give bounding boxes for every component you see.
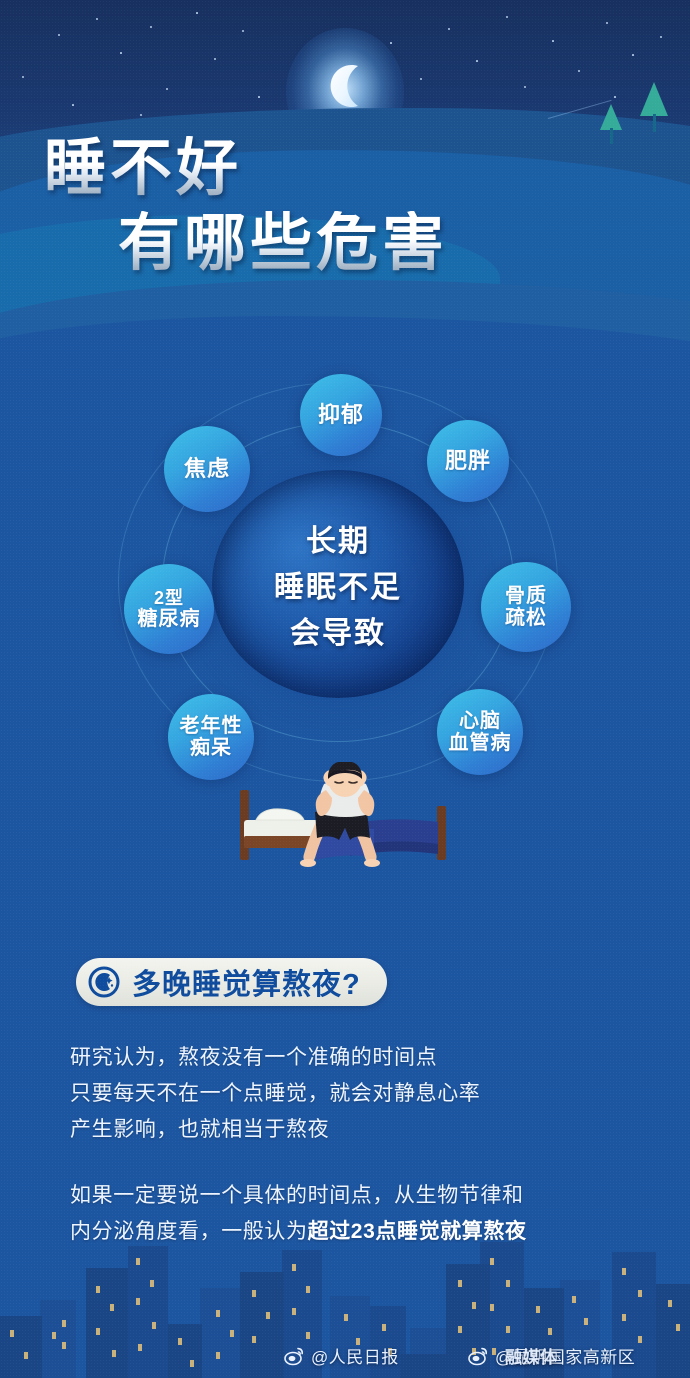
star: [72, 104, 74, 106]
bubble-label-line2: 糖尿病: [138, 608, 201, 630]
star: [166, 88, 168, 90]
section-badge-title: 多晚睡觉算熬夜?: [132, 961, 361, 1003]
star: [632, 54, 634, 56]
paragraph-gap: [70, 1148, 650, 1178]
star: [476, 60, 478, 62]
man-sitting-on-bed-illustration: [232, 762, 458, 874]
star: [214, 58, 216, 60]
bubble-osteoporosis[interactable]: 骨质 疏松: [481, 562, 571, 652]
bubble-label-line1: 骨质: [505, 585, 547, 607]
bubble-label-line2: 血管病: [449, 732, 512, 754]
star: [390, 42, 392, 44]
bubble-label-line1: 2型: [138, 588, 201, 608]
star: [660, 36, 662, 38]
crescent-moon-icon: [321, 62, 369, 110]
title-line-2: 有哪些危害: [0, 211, 690, 276]
center-line-3: 会导致: [290, 608, 386, 652]
paragraph2-line1: 如果一定要说一个具体的时间点，从生物节律和: [70, 1178, 650, 1214]
star: [506, 16, 508, 18]
star: [242, 30, 244, 32]
star: [120, 52, 122, 54]
bubble-obesity[interactable]: 肥胖: [427, 420, 509, 502]
bubble-diabetes[interactable]: 2型 糖尿病: [124, 564, 214, 654]
bubble-label-line1: 心脑: [449, 710, 512, 732]
diagram-center-text: 长期 睡眠不足 会导致: [212, 470, 464, 698]
bubble-label: 肥胖: [445, 449, 491, 474]
star: [420, 78, 422, 80]
watermark-kunming-overlay: 融媒体: [505, 1343, 558, 1368]
bubble-label-line1: 老年性: [180, 715, 243, 737]
poster-root: 睡不好 有哪些危害 长期 睡眠不足 会导致 抑郁 肥胖 骨质 疏松 心脑 血: [0, 0, 690, 1378]
star: [140, 114, 142, 116]
bubble-label: 抑郁: [318, 403, 364, 428]
star: [448, 28, 450, 30]
center-line-1: 长期: [306, 516, 370, 560]
star: [58, 34, 60, 36]
page-title: 睡不好 有哪些危害: [0, 136, 690, 276]
watermark-people-daily: @人民日报: [284, 1343, 399, 1368]
bubble-label-line2: 疏松: [505, 607, 547, 629]
star: [552, 40, 554, 42]
bubble-anxiety[interactable]: 焦虑: [164, 426, 250, 512]
star: [150, 26, 152, 28]
star: [524, 86, 526, 88]
star: [614, 96, 616, 98]
star: [96, 18, 98, 20]
star: [578, 70, 580, 72]
paragraph1-line3: 产生影响，也就相当于熬夜: [70, 1112, 650, 1148]
moon-stars-icon: [88, 966, 120, 998]
body-copy: 研究认为，熬夜没有一个准确的时间点 只要每天不在一个点睡觉，就会对静息心率 产生…: [70, 1040, 650, 1250]
bubble-depression[interactable]: 抑郁: [300, 374, 382, 456]
paragraph1-line1: 研究认为，熬夜没有一个准确的时间点: [70, 1040, 650, 1076]
title-line-1: 睡不好: [0, 136, 690, 201]
weibo-icon: [468, 1346, 488, 1366]
star: [22, 76, 24, 78]
star: [196, 12, 198, 14]
star: [606, 22, 608, 24]
consequences-diagram: 长期 睡眠不足 会导致 抑郁 肥胖 骨质 疏松 心脑 血管病 老年性 痴呆: [118, 382, 573, 792]
star: [258, 96, 260, 98]
center-line-2: 睡眠不足: [274, 562, 402, 606]
section-badge: 多晚睡觉算熬夜?: [76, 958, 387, 1006]
watermark-label: @人民日报: [311, 1343, 399, 1368]
paragraph1-line2: 只要每天不在一个点睡觉，就会对静息心率: [70, 1076, 650, 1112]
bubble-label: 焦虑: [184, 457, 230, 482]
weibo-icon: [284, 1346, 304, 1366]
bubble-label-line2: 痴呆: [180, 737, 243, 759]
